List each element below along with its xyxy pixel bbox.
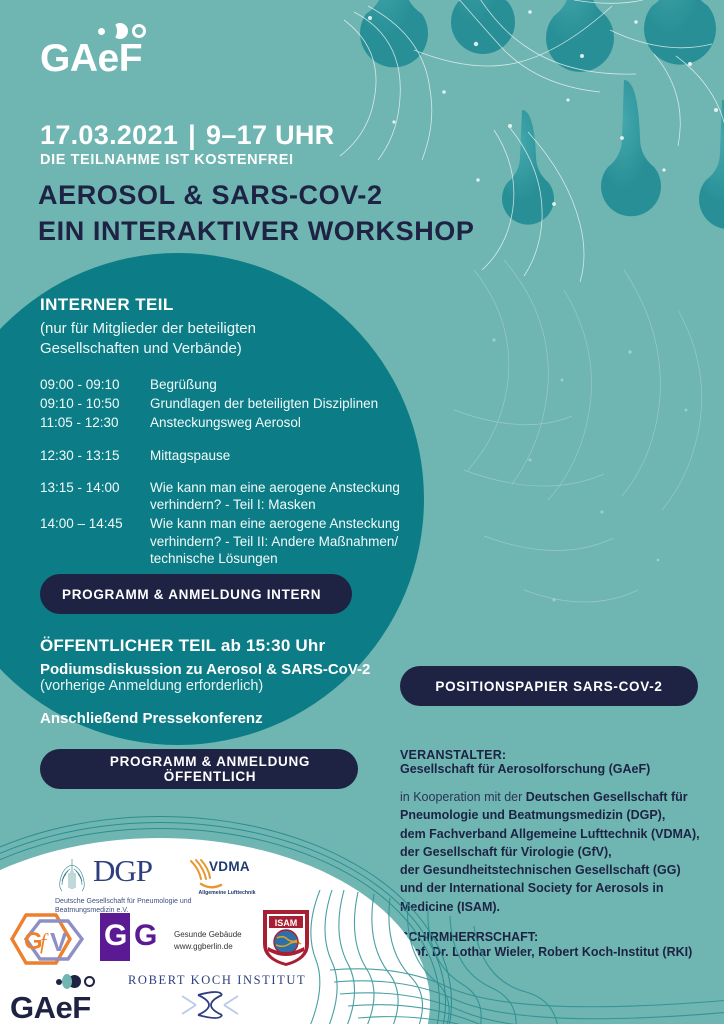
public-heading: ÖFFENTLICHER TEIL ab 15:30 Uhr xyxy=(40,636,420,656)
schedule-topic: Begrüßung xyxy=(150,376,440,395)
schedule-row: 14:00 – 14:45Wie kann man eine aerogene … xyxy=(40,515,440,569)
schedule-topic: Grundlagen der beteiligten Disziplinen xyxy=(150,395,440,414)
cooperation-line: dem Fachverband Allgemeine Lufttechnik (… xyxy=(400,827,700,841)
internal-heading: INTERNER TEIL xyxy=(40,295,440,315)
vdma-swoosh-icon xyxy=(187,857,267,891)
rki-wordmark: ROBERT KOCH INSTITUT xyxy=(128,973,308,988)
positionspapier-button[interactable]: POSITIONSPAPIER SARS-COV-2 xyxy=(400,666,698,706)
event-date-time: 17.03.2021|9–17 UHR xyxy=(40,120,334,151)
gaef-logo-dot-small-icon xyxy=(98,28,105,35)
gg-logo: G G Gesunde Gebäude www.ggberlin.de xyxy=(100,913,260,965)
gaef-footer-logo: GAeF xyxy=(10,975,120,1023)
lungs-icon xyxy=(55,857,89,893)
gfv-hexagon-icon: G f V xyxy=(10,913,90,965)
schedule-row: 09:00 - 09:10Begrüßung xyxy=(40,376,440,395)
rki-logo: ROBERT KOCH INSTITUT xyxy=(128,973,308,1024)
rki-dna-icon xyxy=(176,990,260,1020)
public-line-3: Anschließend Pressekonferenz xyxy=(40,710,420,727)
schedule-time: 09:10 - 10:50 xyxy=(40,395,150,414)
gaef-footer-wordmark: GAeF xyxy=(10,992,91,1023)
gfv-logo: G f V xyxy=(10,913,90,965)
internal-subtitle-line: Gesellschaften und Verbände) xyxy=(40,339,440,359)
gg-letter-1: G xyxy=(104,921,127,951)
programm-anmeldung-intern-button[interactable]: PROGRAMM & ANMELDUNG INTERN xyxy=(40,574,352,614)
cooperation-line: der Gesellschaft für Virologie (GfV), xyxy=(400,845,612,859)
organiser-label: VERANSTALTER: xyxy=(400,748,710,762)
schedule-time: 13:15 - 14:00 xyxy=(40,479,150,516)
programm-anmeldung-oeffentlich-button[interactable]: PROGRAMM & ANMELDUNG ÖFFENTLICH xyxy=(40,749,358,789)
schedule-topic: Mittagspause xyxy=(150,447,440,466)
schedule-row: 09:10 - 10:50Grundlagen der beteiligten … xyxy=(40,395,440,414)
schedule-time: 12:30 - 13:15 xyxy=(40,447,150,466)
gaef-logo: GAeF xyxy=(40,22,160,78)
gaef-footer-ring-icon xyxy=(84,976,95,987)
cooperation-line: der Gesundheitstechnischen Gesellschaft … xyxy=(400,863,681,877)
internal-subtitle-line: (nur für Mitglieder der beteiligten xyxy=(40,319,440,339)
vdma-logo: VDMA Allgemeine Lufttechnik xyxy=(187,859,267,896)
schedule-gap xyxy=(40,434,440,447)
internal-schedule-table: 09:00 - 09:10Begrüßung09:10 - 10:50Grund… xyxy=(40,376,440,569)
filament-artwork-icon xyxy=(434,260,724,680)
internal-section: INTERNER TEIL (nur für Mitglieder der be… xyxy=(40,295,440,569)
schedule-topic: Wie kann man eine aerogene Ansteckung ve… xyxy=(150,479,440,516)
public-line-1: Podiumsdiskussion zu Aerosol & SARS-CoV-… xyxy=(40,661,420,678)
dgp-wordmark: DGP xyxy=(93,853,152,889)
title-line-2: EIN INTERAKTIVER WORKSHOP xyxy=(38,214,475,250)
cooperation-intro: in Kooperation mit der xyxy=(400,790,526,804)
schedule-time: 14:00 – 14:45 xyxy=(40,515,150,569)
schedule-time: 09:00 - 09:10 xyxy=(40,376,150,395)
svg-text:ISAM: ISAM xyxy=(275,918,298,928)
isam-logo: ISAM xyxy=(260,907,312,969)
title-line-1: AEROSOL & SARS-COV-2 xyxy=(38,178,475,214)
gaef-footer-crescent-icon xyxy=(68,975,81,988)
schedule-gap xyxy=(40,466,440,479)
internal-subtitle: (nur für Mitglieder der beteiligtenGesel… xyxy=(40,319,440,360)
poster-root: GAeF 17.03.2021|9–17 UHR DIE TEILNAHME I… xyxy=(0,0,724,1024)
date-separator: | xyxy=(178,120,206,150)
schedule-topic: Ansteckungsweg Aerosol xyxy=(150,414,440,433)
schedule-row: 12:30 - 13:15Mittagspause xyxy=(40,447,440,466)
svg-text:f: f xyxy=(40,929,49,954)
event-time: 9–17 UHR xyxy=(206,120,334,150)
partner-logos: DGP Deutsche Gesellschaft für Pneumologi… xyxy=(0,845,360,1024)
schedule-time: 11:05 - 12:30 xyxy=(40,414,150,433)
gaef-logo-ring-icon xyxy=(132,24,146,38)
free-participation-note: DIE TEILNAHME IST KOSTENFREI xyxy=(40,152,294,168)
svg-text:V: V xyxy=(50,927,68,957)
schedule-row: 13:15 - 14:00Wie kann man eine aerogene … xyxy=(40,479,440,516)
gg-subtitle: Gesunde Gebäude www.ggberlin.de xyxy=(174,929,260,952)
organiser-name: Gesellschaft für Aerosolforschung (GAeF) xyxy=(400,762,710,776)
public-line-2: (vorherige Anmeldung erforderlich) xyxy=(40,678,420,694)
page-title: AEROSOL & SARS-COV-2 EIN INTERAKTIVER WO… xyxy=(38,178,475,249)
isam-shield-icon: ISAM xyxy=(260,907,312,969)
schedule-topic: Wie kann man eine aerogene Ansteckung ve… xyxy=(150,515,440,569)
public-section: ÖFFENTLICHER TEIL ab 15:30 Uhr Podiumsdi… xyxy=(40,636,420,727)
gg-letter-2: G xyxy=(134,921,157,951)
event-date: 17.03.2021 xyxy=(40,120,178,150)
gaef-logo-wordmark: GAeF xyxy=(40,39,142,78)
schedule-row: 11:05 - 12:30Ansteckungsweg Aerosol xyxy=(40,414,440,433)
